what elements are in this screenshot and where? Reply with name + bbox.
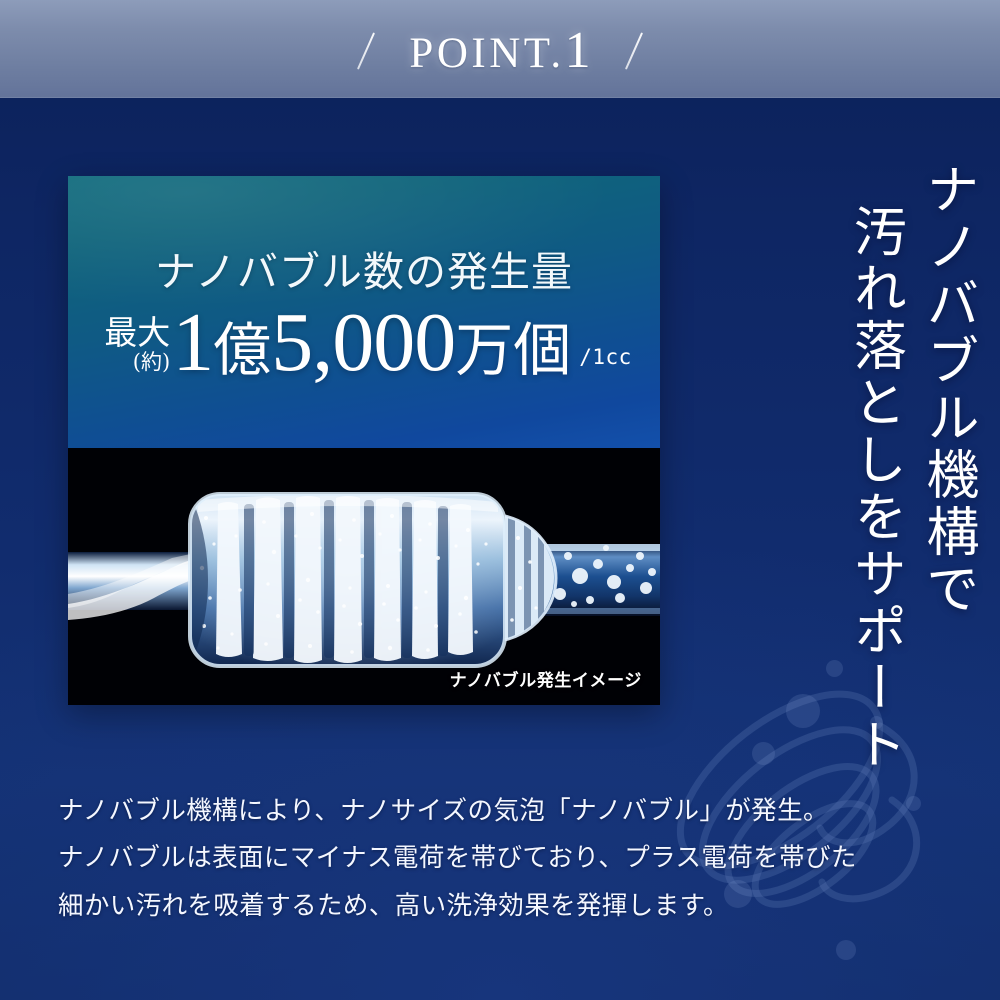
photo-caption: ナノバブル発生イメージ [450,666,642,691]
paragraph-line-3: 細かい汚れを吸着するため、高い洗浄効果を発揮します。 [58,883,938,930]
card-headline: ナノバブル数の発生量 [68,238,660,298]
description-paragraph: ナノバブル機構により、ナノサイズの気泡「ナノバブル」が発生。 ナノバブルは表面に… [58,788,938,930]
card-stat-panel: ナノバブル数の発生量 最大 (約) 1億5,000万個 /1cc [68,176,660,448]
page-title-number: 1 [565,22,591,79]
bubble-decoration-icon [836,940,856,960]
header-inner: POINT.1 [353,25,646,77]
bubble-decoration-icon [752,742,775,765]
amount-number-2: 5,000 [271,296,455,389]
page-title: POINT.1 [409,25,590,77]
vertical-headline-right-column: ナノバブル機構で [915,162,980,742]
card-stat-line: 最大 (約) 1億5,000万個 /1cc [82,304,654,381]
point-1-page: POINT.1 ナノバブル数の発生量 [0,0,1000,1000]
nanobubble-photo: ナノバブル発生イメージ [68,448,660,705]
amount-unit: /1cc [579,345,632,381]
page-title-text: POINT. [409,30,564,77]
vertical-headline: 汚れ落としをサポート ナノバブル機構で [843,162,980,784]
amount-kanji-oku: 億 [213,316,271,384]
amount-value: 1億5,000万個 [172,304,571,381]
slash-right-icon [621,29,647,73]
bubble-decoration-icon [826,660,843,677]
max-label-bottom: (約) [133,352,170,373]
amount-number-1: 1 [172,296,213,389]
max-label-top: 最大 [104,316,170,349]
amount-kanji-manko: 万個 [455,316,571,384]
paragraph-line-2: ナノバブルは表面にマイナス電荷を帯びており、プラス電荷を帯びた [58,835,938,882]
vertical-headline-left-column: 汚れ落としをサポート [843,204,908,784]
max-label-group: 最大 (約) [104,316,170,381]
header-band: POINT.1 [0,0,1000,98]
slash-left-icon [353,29,379,73]
paragraph-line-1: ナノバブル機構により、ナノサイズの気泡「ナノバブル」が発生。 [58,788,938,835]
nanobubble-info-card: ナノバブル数の発生量 最大 (約) 1億5,000万個 /1cc [68,176,660,705]
bubble-decoration-icon [786,694,820,728]
